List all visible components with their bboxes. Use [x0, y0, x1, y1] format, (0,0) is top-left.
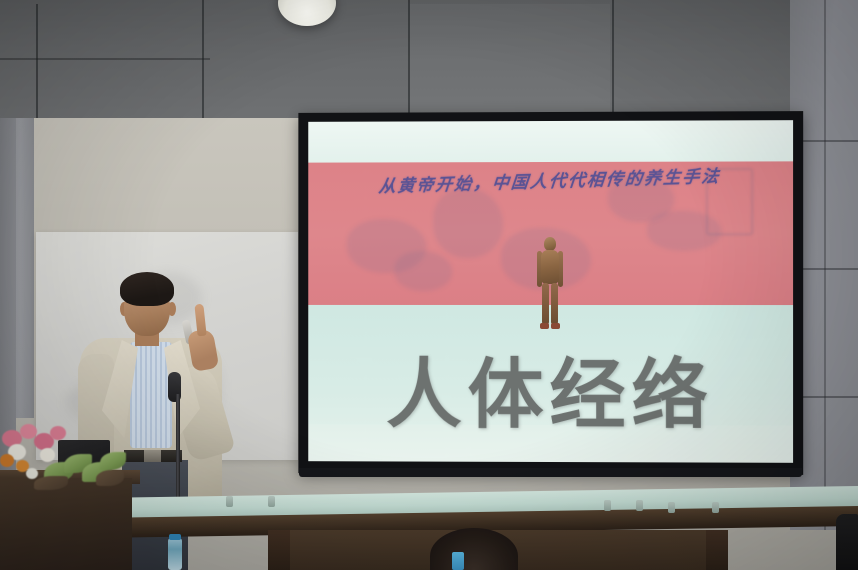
presenter-hair: [120, 272, 174, 306]
flower: [0, 454, 14, 467]
desk-knob: [668, 502, 675, 513]
panel-seam: [202, 0, 204, 122]
podium: [0, 478, 132, 570]
panel-seam: [36, 4, 38, 122]
desk-leg: [268, 530, 290, 570]
slide-watermark: [433, 188, 503, 258]
wall-panel: [410, 4, 610, 118]
figure-leg: [550, 283, 557, 325]
water-bottle: [452, 552, 464, 570]
figure-head: [544, 237, 556, 251]
water-bottle-cap: [169, 534, 181, 540]
figure-foot: [550, 323, 559, 329]
screen-frame-bottom: [299, 468, 802, 477]
slide-band-top: [308, 120, 793, 162]
flower: [40, 448, 55, 462]
desk-leg: [706, 530, 728, 570]
floral-arrangement: [0, 424, 124, 490]
figure-torso: [541, 250, 559, 284]
desk-knob: [636, 500, 643, 511]
upper-wall-panels: [0, 0, 858, 122]
foliage-dark: [96, 470, 124, 486]
foliage-dark: [34, 476, 68, 490]
panel-seam: [824, 0, 826, 530]
chair-back: [836, 514, 858, 570]
flower: [26, 468, 38, 479]
lecture-hall-scene: 从黄帝开始，中国人代代相传的养生手法 人体经络: [0, 0, 858, 570]
panel-seam: [612, 0, 614, 122]
desk-knob: [268, 496, 275, 507]
slide-watermark: [395, 251, 453, 291]
desk-knob: [712, 502, 719, 513]
presenter-pointing-finger: [194, 304, 206, 337]
desk-knob: [226, 496, 233, 507]
desk-knob: [604, 500, 611, 511]
figure-foot: [540, 323, 549, 329]
bronze-acupuncture-figure: [535, 237, 565, 331]
presenter-belt-buckle: [144, 450, 161, 462]
slide-main-title: 人体经络: [308, 359, 793, 432]
presentation-slide: 从黄帝开始，中国人代代相传的养生手法 人体经络: [308, 120, 793, 463]
figure-leg: [542, 283, 549, 325]
flower: [50, 426, 66, 440]
water-bottle: [168, 538, 182, 570]
foliage: [100, 452, 126, 470]
projection-screen: 从黄帝开始，中国人代代相传的养生手法 人体经络: [298, 111, 803, 475]
panel-seam: [0, 58, 210, 60]
